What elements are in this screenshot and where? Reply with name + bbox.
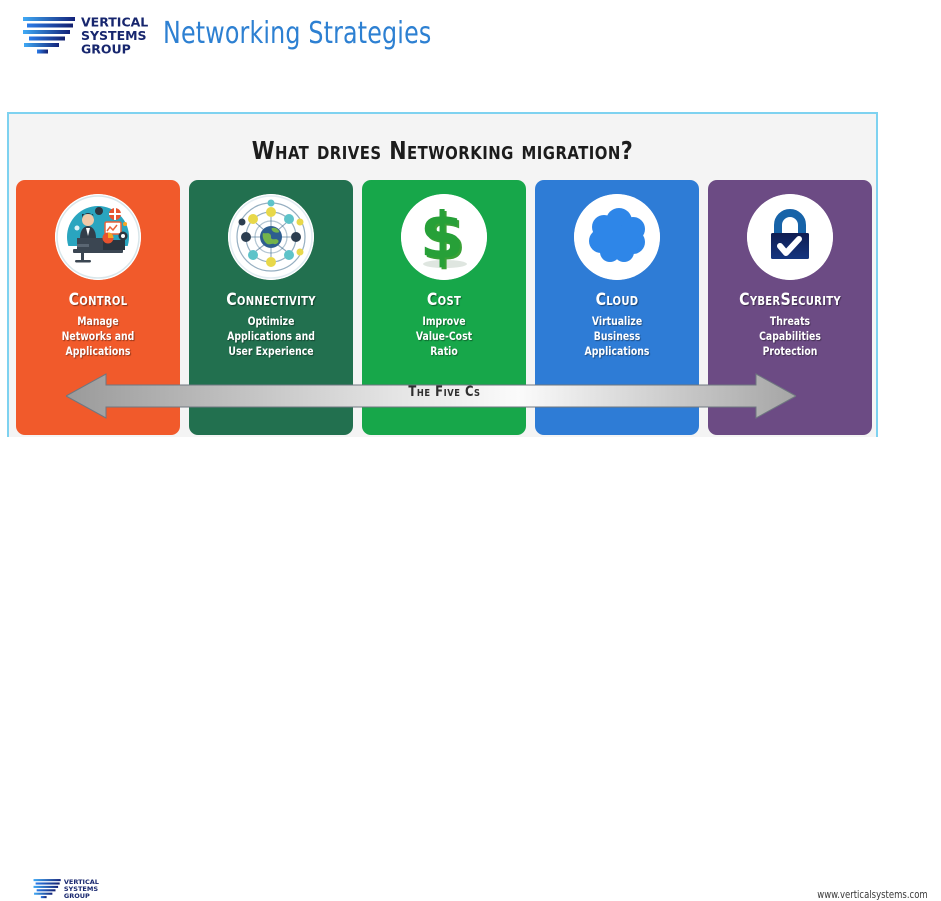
panel-cost-sub-line-1: Improve bbox=[374, 314, 514, 329]
page-title: Networking Strategies bbox=[163, 16, 431, 51]
svg-text:VERTICAL: VERTICAL bbox=[64, 878, 99, 886]
panel-cybersecurity-heading: CyberSecurity bbox=[714, 290, 867, 310]
slide-header: VERTICAL SYSTEMS GROUP Networking Strate… bbox=[0, 0, 941, 100]
panel-control-sub-line-1: Manage bbox=[28, 314, 168, 329]
cloud-icon bbox=[574, 194, 660, 280]
content-heading: What drives Networking migration? bbox=[44, 136, 842, 165]
panel-cost-sub-line-3: Ratio bbox=[374, 344, 514, 359]
svg-text:GROUP: GROUP bbox=[81, 42, 131, 57]
panel-cloud-sub-line-1: Virtualize bbox=[547, 314, 687, 329]
padlock-check-icon bbox=[747, 194, 833, 280]
footer-website-url[interactable]: www.verticalsystems.com bbox=[818, 889, 928, 901]
svg-text:GROUP: GROUP bbox=[64, 892, 90, 900]
panel-cybersecurity-sub-line-1: Threats bbox=[720, 314, 860, 329]
panel-cybersecurity-sub: Threats Capabilities Protection bbox=[720, 314, 860, 359]
panel-cost-heading: Cost bbox=[368, 290, 521, 310]
panel-connectivity-sub-line-3: User Experience bbox=[201, 344, 341, 359]
panel-control-sub-line-3: Applications bbox=[28, 344, 168, 359]
panel-cybersecurity-sub-line-2: Capabilities bbox=[720, 329, 860, 344]
svg-text:$: $ bbox=[420, 200, 465, 274]
panel-cost-sub: Improve Value-Cost Ratio bbox=[374, 314, 514, 359]
slide-footer: VERTICAL SYSTEMS GROUP www.verticalsyste… bbox=[0, 437, 941, 474]
arrow-label: The Five Cs bbox=[44, 384, 845, 400]
workstation-control-icon bbox=[55, 194, 141, 280]
panel-control-heading: Control bbox=[22, 290, 175, 310]
panel-connectivity-sub-line-2: Applications and bbox=[201, 329, 341, 344]
content-panel: What drives Networking migration? bbox=[7, 112, 878, 465]
panel-cloud-sub-line-2: Business bbox=[547, 329, 687, 344]
vertical-systems-logo-header: VERTICAL SYSTEMS GROUP bbox=[22, 14, 152, 58]
vertical-systems-logo-footer: VERTICAL SYSTEMS GROUP bbox=[33, 877, 101, 901]
panel-cloud-heading: Cloud bbox=[541, 290, 694, 310]
panel-cloud-sub-line-3: Applications bbox=[547, 344, 687, 359]
svg-text:SYSTEMS: SYSTEMS bbox=[81, 28, 147, 43]
panel-cost-sub-line-2: Value-Cost bbox=[374, 329, 514, 344]
panel-control-sub: Manage Networks and Applications bbox=[28, 314, 168, 359]
panel-cybersecurity-sub-line-3: Protection bbox=[720, 344, 860, 359]
dollar-sign-icon: $ $ bbox=[401, 194, 487, 280]
svg-text:VERTICAL: VERTICAL bbox=[81, 15, 148, 30]
panel-control-sub-line-2: Networks and bbox=[28, 329, 168, 344]
global-network-icon bbox=[228, 194, 314, 280]
panel-connectivity-heading: Connectivity bbox=[195, 290, 348, 310]
panel-connectivity-sub: Optimize Applications and User Experienc… bbox=[201, 314, 341, 359]
panel-connectivity-sub-line-1: Optimize bbox=[201, 314, 341, 329]
svg-text:SYSTEMS: SYSTEMS bbox=[64, 885, 98, 893]
panel-cloud-sub: Virtualize Business Applications bbox=[547, 314, 687, 359]
